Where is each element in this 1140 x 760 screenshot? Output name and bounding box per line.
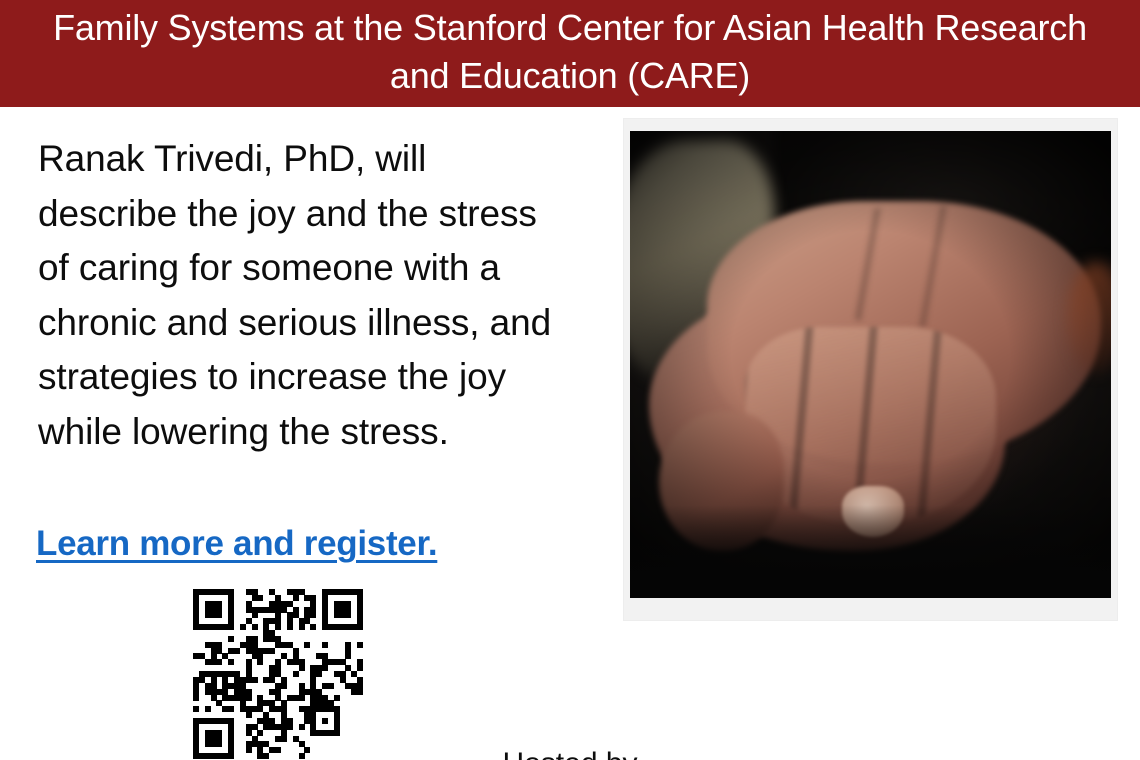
- bottom-clipped-caption: Hosted by: [0, 745, 1140, 760]
- body-paragraph: Ranak Trivedi, PhD, will describe the jo…: [38, 132, 568, 459]
- header-band: Joy and Stress of Caregiving Family Syst…: [0, 0, 1140, 107]
- page-title-line-1: Family Systems at the Stanford Center fo…: [14, 4, 1126, 52]
- page-title-line-2: and Education (CARE): [14, 52, 1126, 100]
- clasped-hands-photo: [630, 131, 1111, 598]
- body-line-7: lowering the stress.: [132, 411, 449, 452]
- qr-code[interactable]: [193, 589, 363, 759]
- photo-bottom-shadow: [630, 505, 1111, 598]
- body-line-2: describe the joy and the: [38, 193, 428, 234]
- header-clipped-top-line: Joy and Stress of Caregiving: [0, 0, 1140, 3]
- photo-frame: [624, 119, 1117, 620]
- body-line-1: Ranak Trivedi, PhD, will: [38, 138, 426, 179]
- qr-code-canvas[interactable]: [193, 589, 363, 759]
- learn-more-register-link[interactable]: Learn more and register.: [36, 522, 437, 566]
- page-title: Family Systems at the Stanford Center fo…: [0, 4, 1140, 100]
- slide-canvas: Joy and Stress of Caregiving Family Syst…: [0, 0, 1140, 760]
